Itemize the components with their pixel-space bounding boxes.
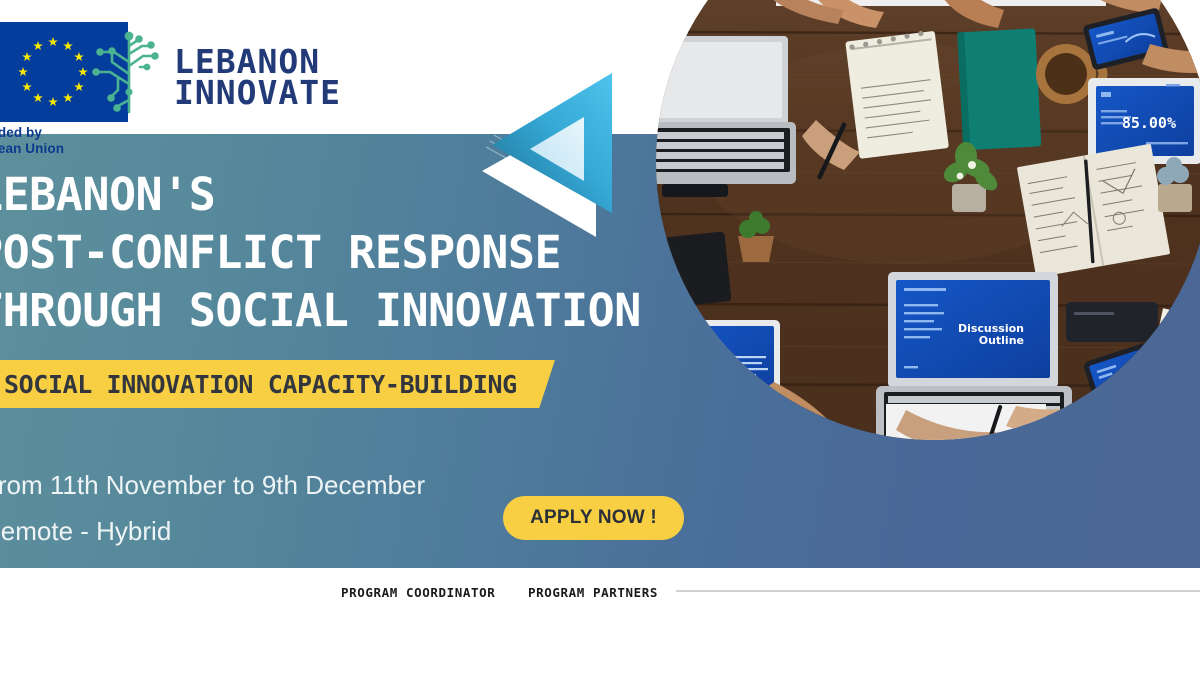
eu-caption-line2: ...pean Union	[0, 141, 158, 157]
headline-line3: THROUGH SOCIAL INNOVATION	[0, 282, 696, 340]
subtitle-banner-text: SOCIAL INNOVATION CAPACITY-BUILDING	[4, 370, 517, 399]
lebanon-innovate-wordmark: LEBANON INNOVATE	[174, 28, 341, 108]
program-coordinator-label: PROGRAM COORDINATOR	[341, 585, 495, 600]
svg-text:Outline: Outline	[979, 334, 1024, 347]
footer-divider	[676, 590, 1200, 592]
event-dates: From 11th November to 9th December	[0, 462, 425, 508]
apply-now-button[interactable]: APPLY NOW !	[503, 496, 684, 540]
event-details: From 11th November to 9th December Remot…	[0, 462, 425, 554]
subtitle-banner: SOCIAL INNOVATION CAPACITY-BUILDING	[0, 360, 555, 408]
event-format: Remote - Hybrid	[0, 508, 425, 554]
lebanon-innovate-logo[interactable]: LEBANON INNOVATE	[88, 22, 341, 114]
program-partners-label: PROGRAM PARTNERS	[528, 585, 658, 600]
svg-text:85.00%: 85.00%	[1122, 114, 1176, 132]
circuit-tree-icon	[88, 22, 170, 114]
team-meeting-photo: 85.00%	[656, 0, 1200, 440]
eu-funding-caption: ...nded by ...pean Union	[0, 125, 158, 156]
eu-caption-line1: ...nded by	[0, 125, 158, 141]
svg-text:85.00%: 85.00%	[670, 362, 724, 380]
footer-bar: PROGRAM COORDINATOR PROGRAM PARTNERS	[0, 568, 1200, 700]
brand-line2: INNOVATE	[174, 77, 341, 108]
